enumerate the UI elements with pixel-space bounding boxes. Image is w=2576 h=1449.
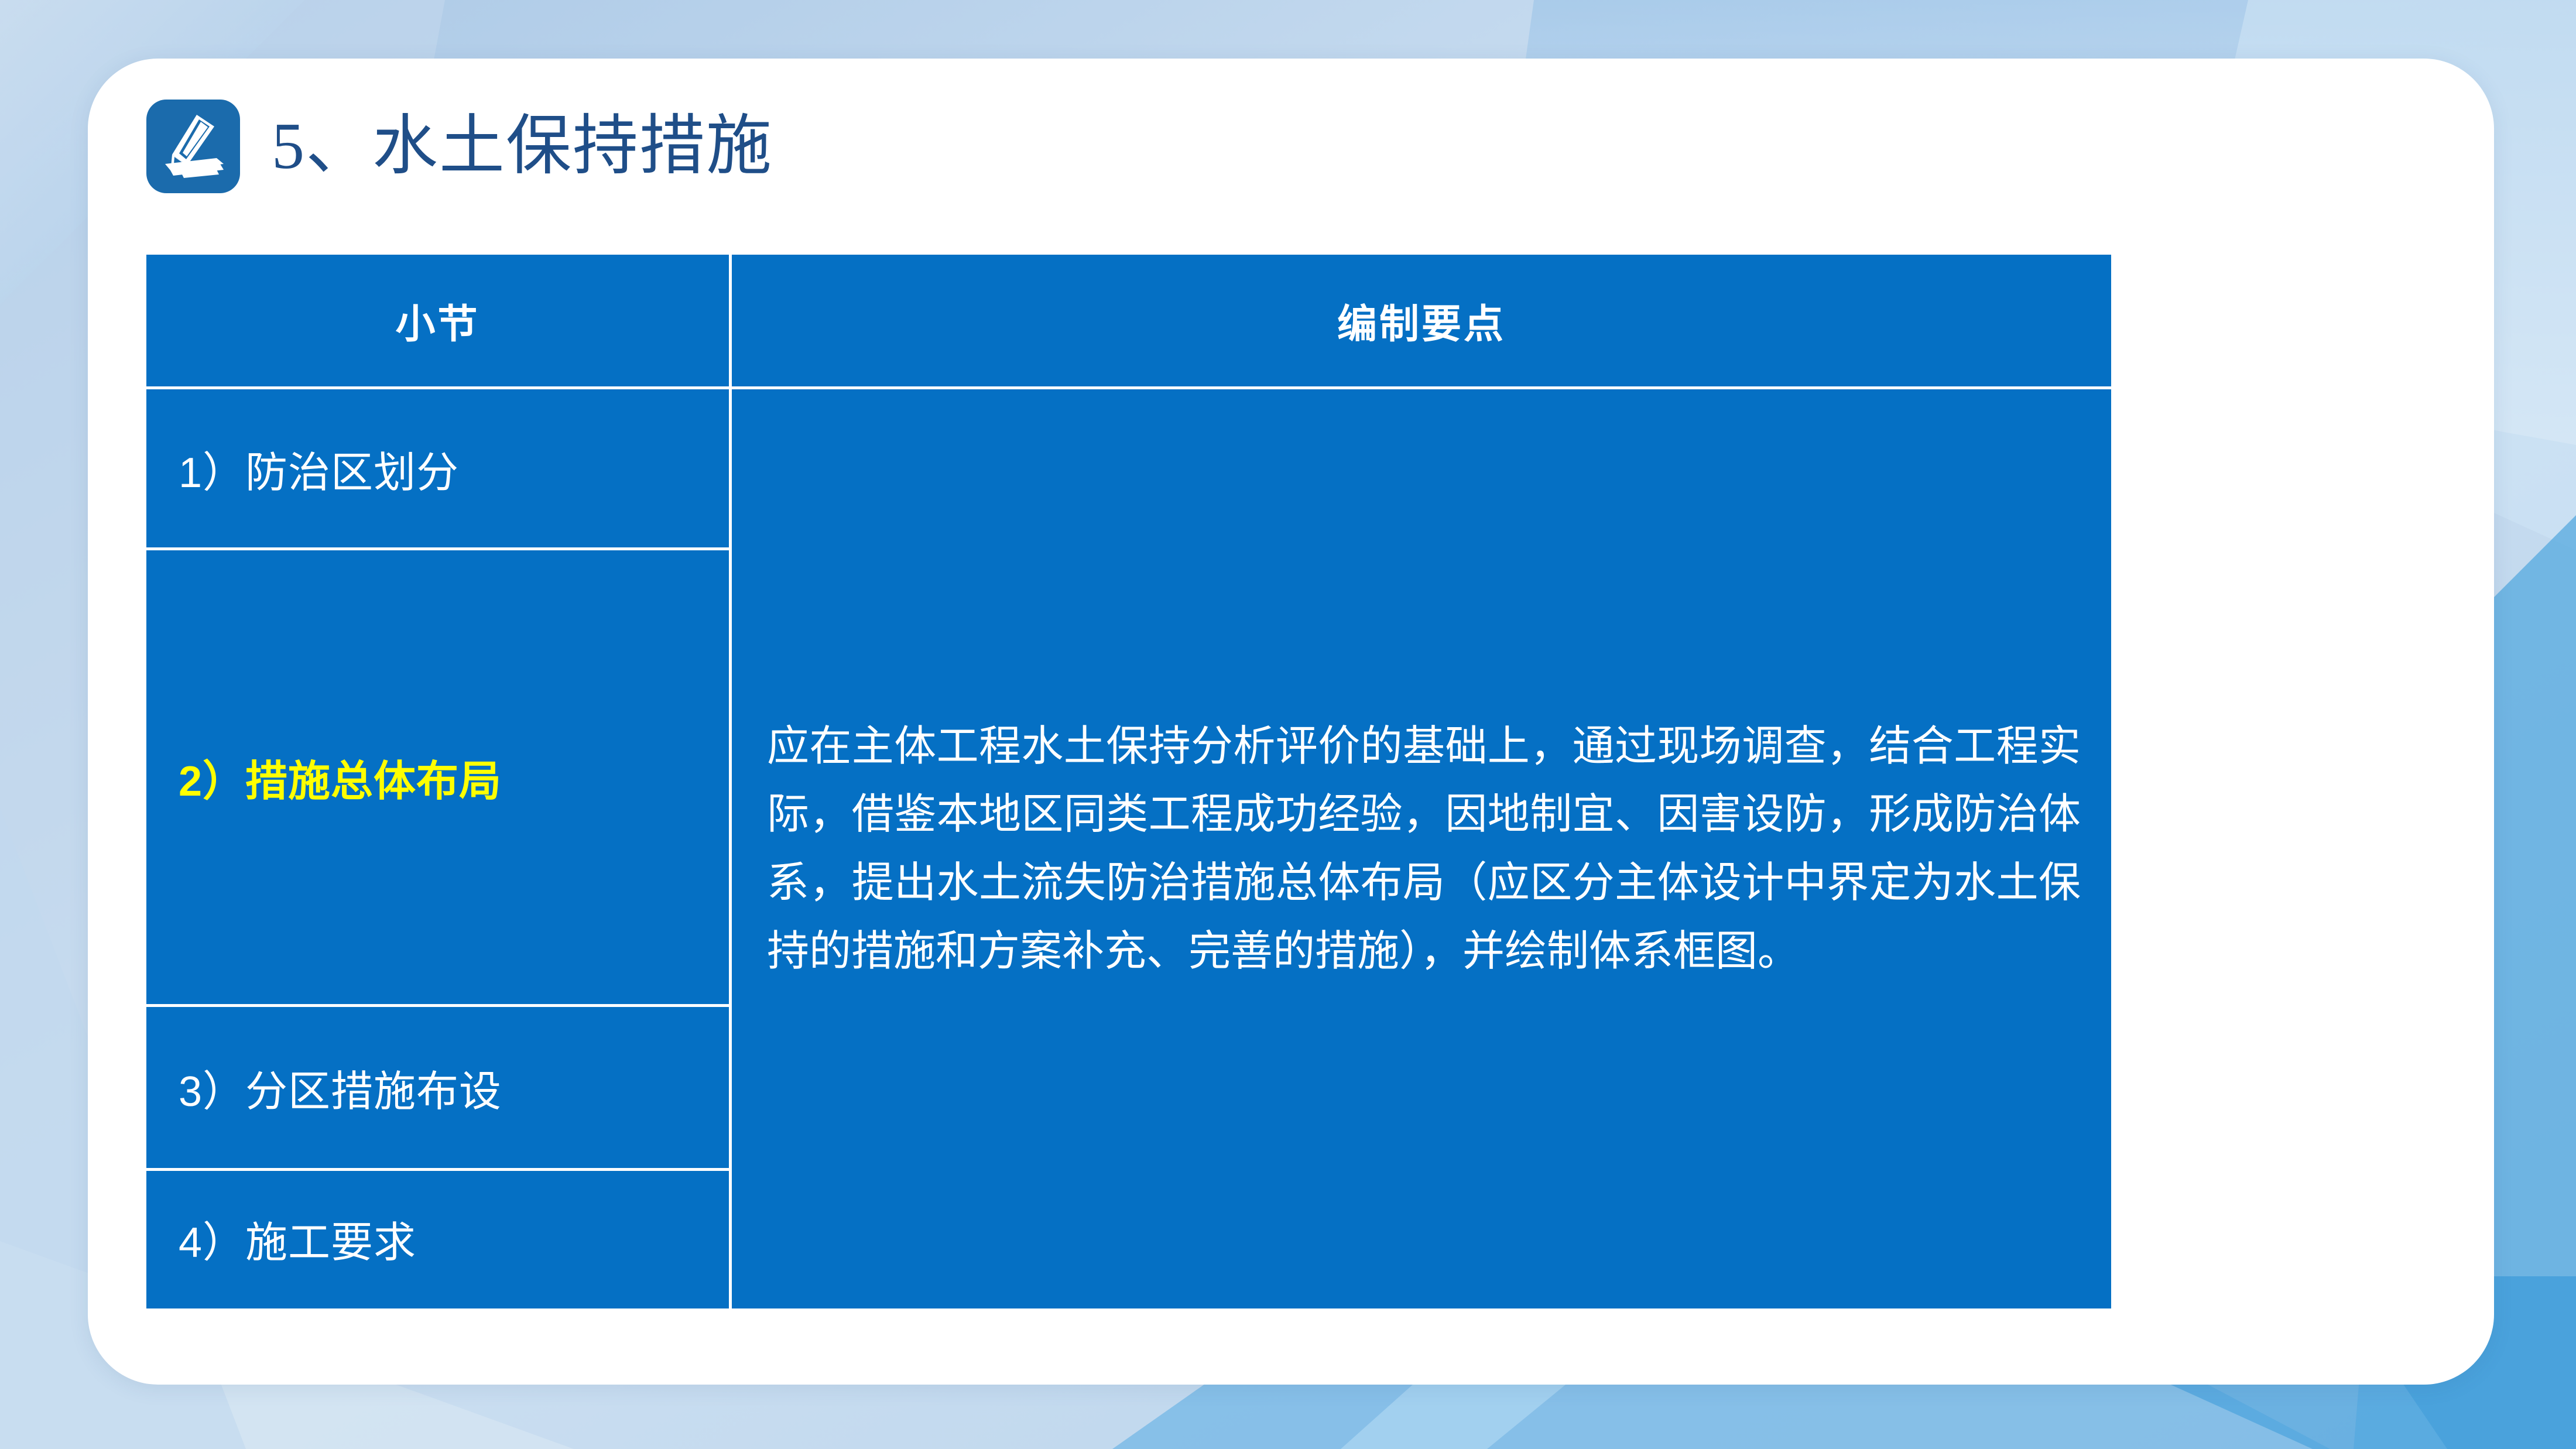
- table-detail-cell: 应在主体工程水土保持分析评价的基础上，通过现场调查，结合工程实际，借鉴本地区同类…: [732, 389, 2111, 1308]
- table-header-right: 编制要点: [732, 255, 2111, 389]
- slide-root: 5、水土保持措施 小节 1）防治区划分 2）措施总体布局 3）分区措施布设 4）…: [0, 0, 2576, 1449]
- detail-paragraph: 应在主体工程水土保持分析评价的基础上，通过现场调查，结合工程实际，借鉴本地区同类…: [767, 712, 2081, 986]
- page-title: 5、水土保持措施: [272, 114, 773, 179]
- table-row[interactable]: 1）防治区划分: [146, 389, 729, 550]
- table-right-column: 编制要点 应在主体工程水土保持分析评价的基础上，通过现场调查，结合工程实际，借鉴…: [732, 255, 2111, 1308]
- table-left-column: 小节 1）防治区划分 2）措施总体布局 3）分区措施布设 4）施工要求: [146, 255, 732, 1308]
- table-row-highlighted[interactable]: 2）措施总体布局: [146, 550, 729, 1007]
- table-header-left: 小节: [146, 255, 729, 389]
- pencil-on-papers-icon: [146, 100, 240, 193]
- sections-table: 小节 1）防治区划分 2）措施总体布局 3）分区措施布设 4）施工要求 编制要点…: [146, 255, 2111, 1308]
- table-row[interactable]: 4）施工要求: [146, 1171, 729, 1306]
- table-row[interactable]: 3）分区措施布设: [146, 1007, 729, 1171]
- slide-header: 5、水土保持措施: [146, 91, 773, 202]
